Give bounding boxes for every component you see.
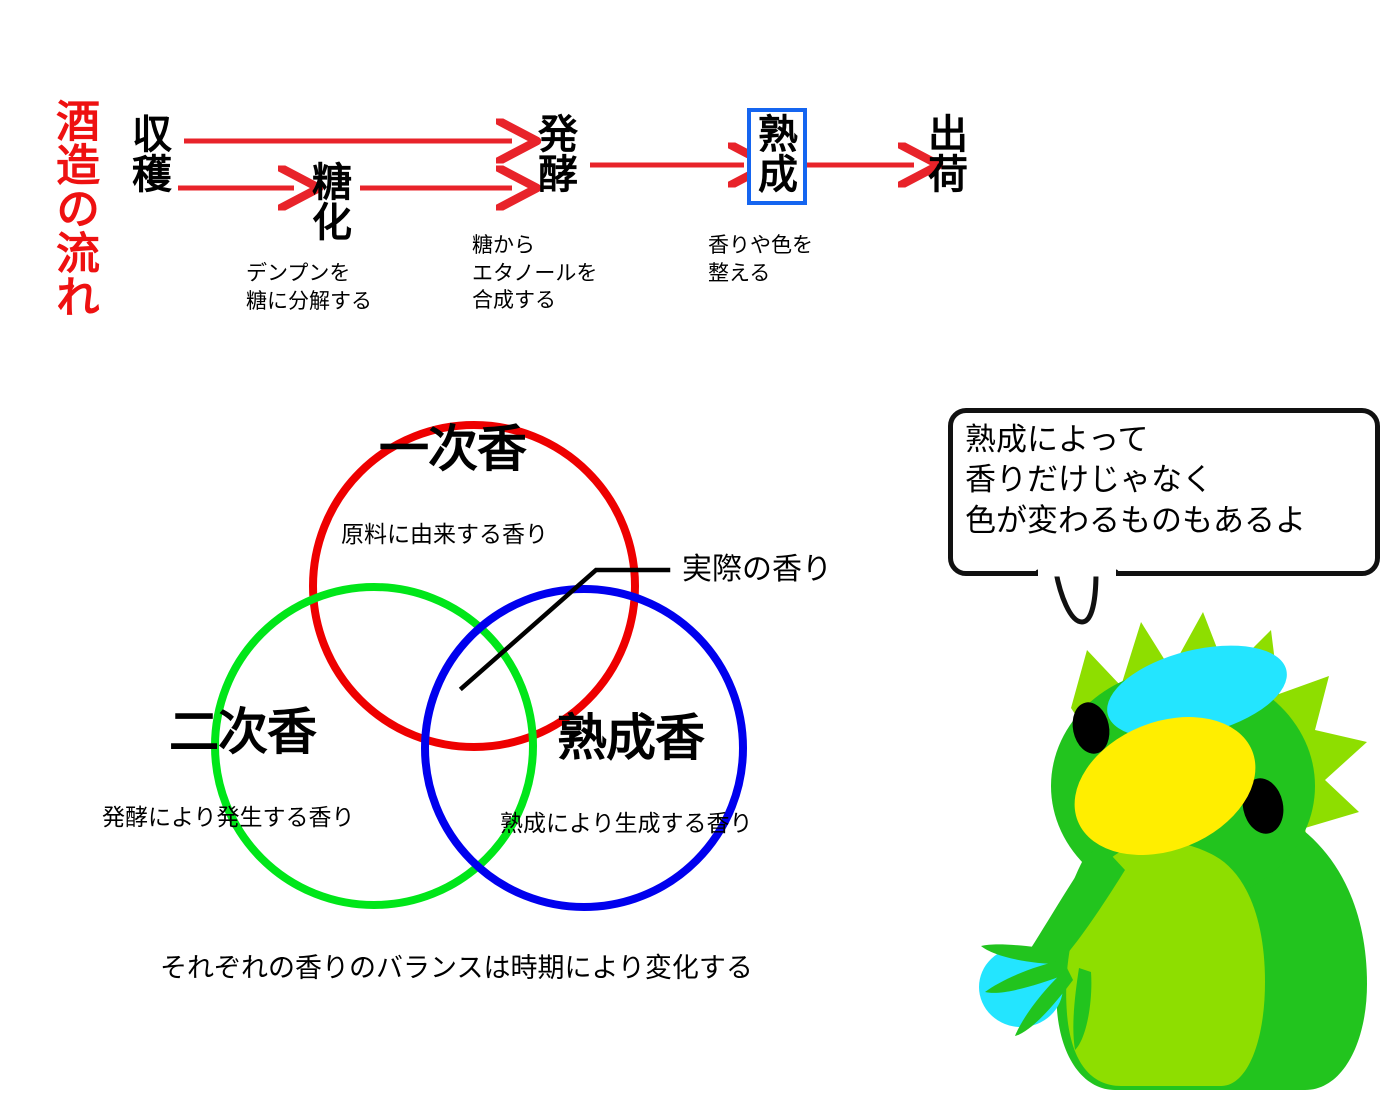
flow-node-aging[interactable]: 熟 成 — [747, 108, 807, 205]
venn-callout-actual-aroma: 実際の香り — [682, 555, 832, 585]
venn-sublabel-secondary: 発酵により発生する香り — [102, 806, 355, 829]
callout-leader-line — [462, 570, 668, 688]
venn-label-aged: 熟成香 — [557, 713, 704, 763]
venn-footer-note: それぞれの香りのバランスは時期により変化する — [160, 955, 753, 982]
diagram-canvas: 酒造の流れ 収 穫 糖 化 デンプンを 糖に分解する 発 酵 糖から エタノール… — [0, 0, 1400, 1120]
flow-node-fermentation: 発 酵 — [528, 115, 588, 195]
speech-bubble-text: 熟成によって 香りだけじゃなく 色が変わるものもあるよ — [965, 420, 1385, 541]
flow-node-harvest: 収 穫 — [122, 115, 182, 195]
flow-arrows — [0, 0, 1400, 360]
section-title-brewing-flow: 酒造の流れ — [24, 88, 96, 328]
venn-sublabel-primary: 原料に由来する香り — [341, 523, 548, 546]
venn-label-primary: 一次香 — [379, 424, 526, 474]
flow-node-saccharification: 糖 化 — [302, 163, 362, 243]
flow-desc-fermentation: 糖から エタノールを 合成する — [472, 232, 672, 315]
flow-desc-saccharification: デンプンを 糖に分解する — [246, 260, 456, 315]
venn-label-secondary: 二次香 — [169, 707, 316, 757]
flow-desc-aging: 香りや色を 整える — [708, 232, 908, 287]
mascot-green-creature — [975, 590, 1400, 1090]
venn-sublabel-aged: 熟成により生成する香り — [500, 812, 753, 835]
flow-node-shipping: 出 荷 — [918, 115, 978, 195]
